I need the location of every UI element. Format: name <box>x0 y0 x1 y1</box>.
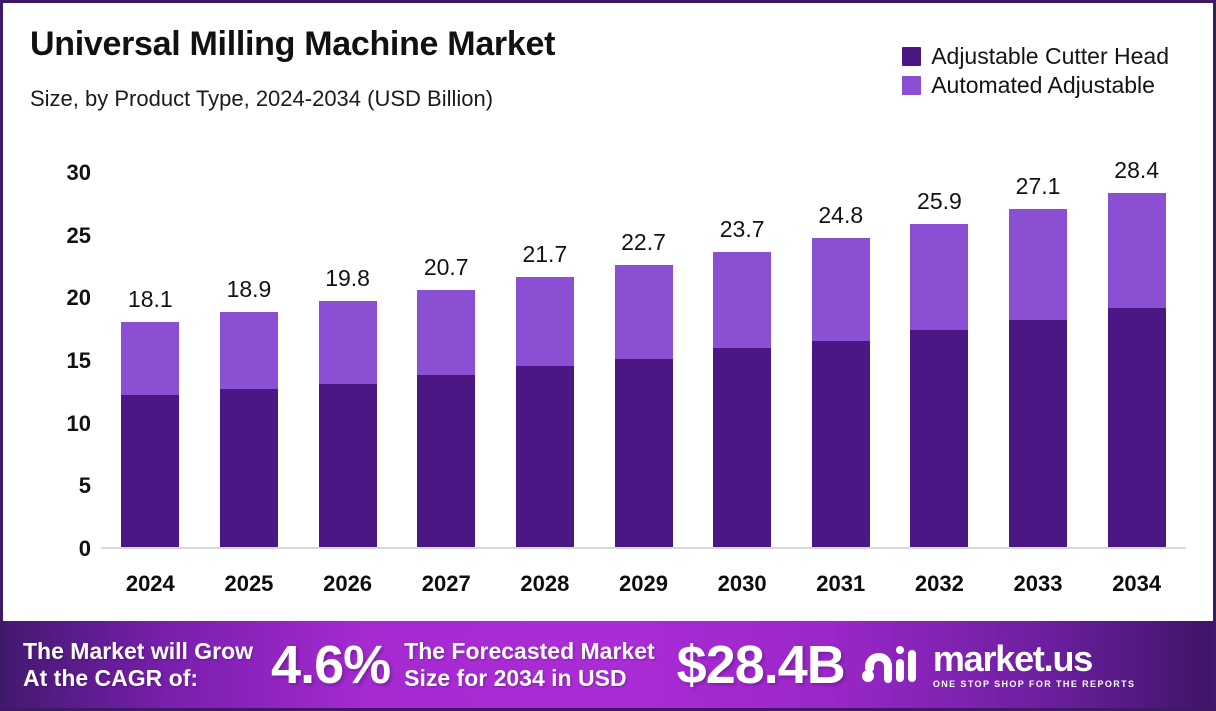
bar-segment-automated-adjustable[interactable] <box>713 252 771 349</box>
bar-segment-adjustable-cutter-head[interactable] <box>1108 308 1166 549</box>
x-axis-tick-label: 2031 <box>816 571 865 597</box>
bar-group[interactable]: 21.7 <box>516 277 574 549</box>
bar-segment-adjustable-cutter-head[interactable] <box>516 366 574 549</box>
market-us-logo-icon <box>861 645 923 685</box>
bar-total-label: 23.7 <box>720 216 765 243</box>
bar-segment-automated-adjustable[interactable] <box>417 290 475 375</box>
bar-group[interactable]: 23.7 <box>713 252 771 549</box>
bar-group[interactable]: 25.9 <box>910 224 968 549</box>
brand-words: market.us ONE STOP SHOP FOR THE REPORTS <box>933 641 1136 689</box>
bar-total-label: 19.8 <box>325 265 370 292</box>
bar-segment-automated-adjustable[interactable] <box>1108 193 1166 308</box>
bar-segment-adjustable-cutter-head[interactable] <box>319 384 377 549</box>
bar-segment-adjustable-cutter-head[interactable] <box>812 341 870 549</box>
bar-group[interactable]: 24.8 <box>812 238 870 549</box>
bar-segment-automated-adjustable[interactable] <box>220 312 278 388</box>
bar-segment-automated-adjustable[interactable] <box>615 265 673 359</box>
y-axis-tick-label: 0 <box>79 536 91 562</box>
chart-legend: Adjustable Cutter Head Automated Adjusta… <box>902 45 1169 97</box>
bar-segment-automated-adjustable[interactable] <box>121 322 179 395</box>
y-axis-tick-label: 30 <box>67 160 91 186</box>
bar-group[interactable]: 28.4 <box>1108 193 1166 549</box>
x-axis-tick-label: 2025 <box>224 571 273 597</box>
bar-segment-adjustable-cutter-head[interactable] <box>417 375 475 549</box>
page-title: Universal Milling Machine Market <box>30 25 555 64</box>
legend-item-label: Automated Adjustable <box>931 74 1155 97</box>
forecast-value: $28.4B <box>677 634 845 696</box>
bar-total-label: 18.9 <box>227 276 272 303</box>
bar-segment-automated-adjustable[interactable] <box>812 238 870 341</box>
brand-name: market.us <box>933 641 1092 677</box>
x-axis-tick-label: 2033 <box>1014 571 1063 597</box>
bar-segment-adjustable-cutter-head[interactable] <box>713 348 771 549</box>
legend-item-adjustable-cutter-head: Adjustable Cutter Head <box>902 45 1169 68</box>
x-axis: 2024202520262027202820292030203120322033… <box>101 549 1186 599</box>
legend-swatch-icon <box>902 47 921 66</box>
bar-segment-automated-adjustable[interactable] <box>319 301 377 384</box>
y-axis-tick-label: 10 <box>67 411 91 437</box>
bar-segment-automated-adjustable[interactable] <box>910 224 968 329</box>
bar-group[interactable]: 27.1 <box>1009 209 1067 549</box>
bar-group[interactable]: 18.1 <box>121 322 179 549</box>
footer-banner: The Market will Grow At the CAGR of: 4.6… <box>3 621 1213 708</box>
y-axis-tick-label: 15 <box>67 348 91 374</box>
bar-segment-adjustable-cutter-head[interactable] <box>220 389 278 549</box>
bar-total-label: 22.7 <box>621 229 666 256</box>
bar-segment-automated-adjustable[interactable] <box>516 277 574 366</box>
y-axis: 051015202530 <box>43 173 91 549</box>
x-axis-tick-label: 2027 <box>422 571 471 597</box>
bar-segment-adjustable-cutter-head[interactable] <box>615 359 673 550</box>
x-axis-tick-label: 2029 <box>619 571 668 597</box>
bar-segment-adjustable-cutter-head[interactable] <box>121 395 179 549</box>
bar-group[interactable]: 20.7 <box>417 290 475 549</box>
brand-logo[interactable]: market.us ONE STOP SHOP FOR THE REPORTS <box>861 641 1136 689</box>
chart-page: Universal Milling Machine Market Size, b… <box>0 0 1216 711</box>
legend-item-automated-adjustable: Automated Adjustable <box>902 74 1155 97</box>
bar-total-label: 25.9 <box>917 188 962 215</box>
bar-total-label: 28.4 <box>1114 157 1159 184</box>
bar-total-label: 24.8 <box>818 202 863 229</box>
cagr-value: 4.6% <box>271 634 390 696</box>
x-axis-tick-label: 2032 <box>915 571 964 597</box>
bar-group[interactable]: 22.7 <box>615 265 673 550</box>
x-axis-tick-label: 2024 <box>126 571 175 597</box>
bar-segment-automated-adjustable[interactable] <box>1009 209 1067 319</box>
bar-group[interactable]: 19.8 <box>319 301 377 549</box>
y-axis-tick-label: 20 <box>67 285 91 311</box>
x-axis-tick-label: 2030 <box>718 571 767 597</box>
x-axis-tick-label: 2028 <box>520 571 569 597</box>
bar-total-label: 27.1 <box>1016 173 1061 200</box>
legend-swatch-icon <box>902 76 921 95</box>
x-axis-tick-label: 2026 <box>323 571 372 597</box>
bar-total-label: 21.7 <box>522 241 567 268</box>
forecast-caption: The Forecasted Market Size for 2034 in U… <box>404 638 655 690</box>
y-axis-tick-label: 25 <box>67 223 91 249</box>
plot-area: 051015202530 18.118.919.820.721.722.723.… <box>101 173 1186 549</box>
y-axis-tick-label: 5 <box>79 473 91 499</box>
bar-total-label: 20.7 <box>424 254 469 281</box>
page-subtitle: Size, by Product Type, 2024-2034 (USD Bi… <box>30 86 493 112</box>
bar-total-label: 18.1 <box>128 286 173 313</box>
bar-segment-adjustable-cutter-head[interactable] <box>910 330 968 549</box>
bar-group[interactable]: 18.9 <box>220 312 278 549</box>
bar-segment-adjustable-cutter-head[interactable] <box>1009 320 1067 549</box>
brand-tagline: ONE STOP SHOP FOR THE REPORTS <box>933 680 1136 689</box>
cagr-caption: The Market will Grow At the CAGR of: <box>23 638 253 690</box>
bars-layer: 18.118.919.820.721.722.723.724.825.927.1… <box>101 173 1186 549</box>
legend-item-label: Adjustable Cutter Head <box>931 45 1169 68</box>
x-axis-tick-label: 2034 <box>1112 571 1161 597</box>
